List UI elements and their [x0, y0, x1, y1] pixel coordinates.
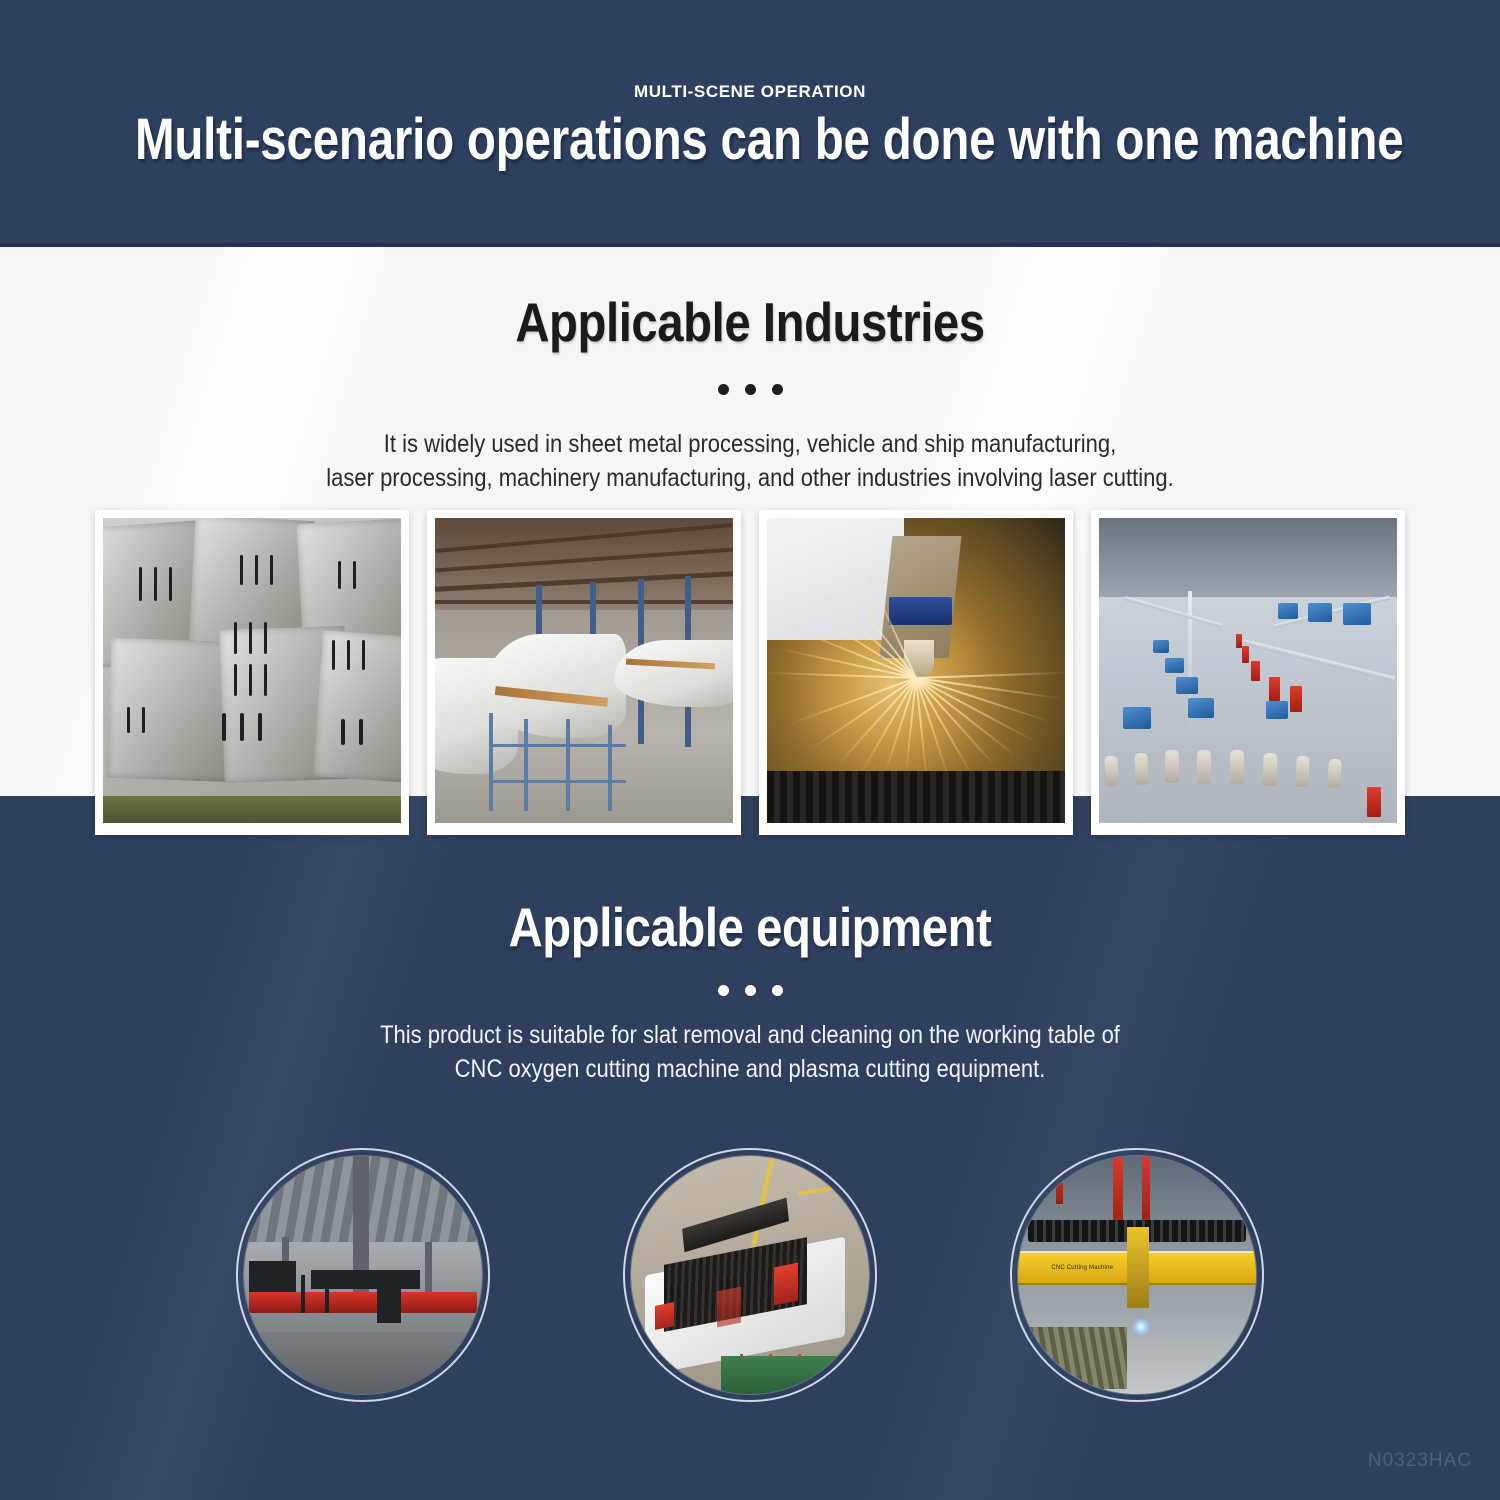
dot-icon: [718, 384, 729, 395]
industries-heading: Applicable Industries: [105, 290, 1395, 354]
equipment-photo-row: CNC Cutting Machine: [0, 1148, 1500, 1402]
plasma-gantry-image: CNC Cutting Machine: [1018, 1156, 1256, 1394]
equipment-description-line2: CNC oxygen cutting machine and plasma cu…: [90, 1052, 1410, 1087]
machine-label: CNC Cutting Machine: [1051, 1265, 1113, 1271]
equipment-description-line1: This product is suitable for slat remova…: [90, 1018, 1410, 1053]
watermark: N0323HAC: [1368, 1450, 1472, 1472]
dot-icon: [718, 985, 729, 996]
hero-title: Multi-scenario operations can be done wi…: [135, 106, 1365, 173]
dot-icon: [772, 985, 783, 996]
product-infographic: MULTI-SCENE OPERATION Multi-scenario ope…: [0, 0, 1500, 1500]
industry-photo-sheet-metal: [95, 510, 409, 835]
industries-description-line2: laser processing, machinery manufacturin…: [90, 461, 1410, 496]
equipment-photo-red-gantry: [236, 1148, 490, 1402]
sheet-metal-image: [103, 518, 401, 823]
equipment-photo-plasma-gantry: CNC Cutting Machine: [1010, 1148, 1264, 1402]
laser-cutting-image: [767, 518, 1065, 823]
industries-description-line1: It is widely used in sheet metal process…: [90, 427, 1410, 462]
equipment-dot-separator: [0, 985, 1500, 996]
eyebrow-label: MULTI-SCENE OPERATION: [0, 82, 1500, 102]
industries-dot-separator: [0, 384, 1500, 395]
ship-manufacturing-image: [435, 518, 733, 823]
equipment-heading: Applicable equipment: [105, 895, 1395, 959]
equipment-photo-cutting-table: [623, 1148, 877, 1402]
industry-photo-ship-manufacturing: [427, 510, 741, 835]
header-band: MULTI-SCENE OPERATION Multi-scenario ope…: [0, 0, 1500, 247]
cutting-table-image: [631, 1156, 869, 1394]
dot-icon: [772, 384, 783, 395]
assembly-line-image: [1099, 518, 1397, 823]
red-gantry-image: [244, 1156, 482, 1394]
industry-photo-laser-cutting: [759, 510, 1073, 835]
industry-photo-assembly-line: [1091, 510, 1405, 835]
dot-icon: [745, 384, 756, 395]
industries-photo-row: [95, 510, 1405, 835]
dot-icon: [745, 985, 756, 996]
